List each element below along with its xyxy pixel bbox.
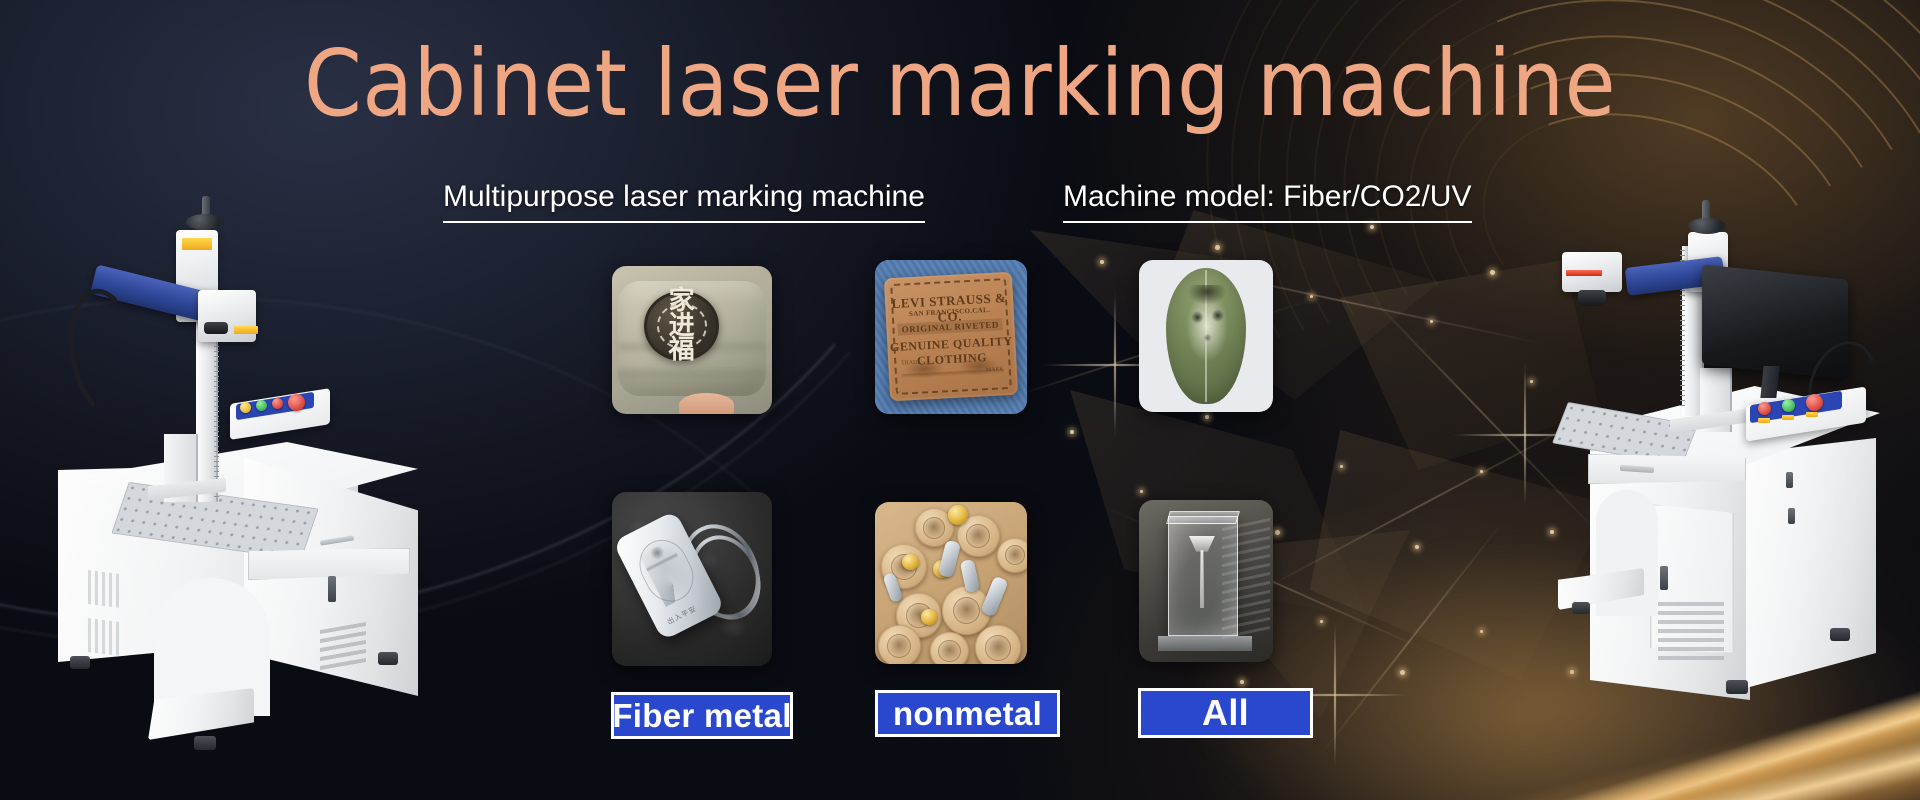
sample-tile-leaf-portrait[interactable]: [1139, 260, 1273, 412]
right-warning-label: [1566, 270, 1602, 276]
left-vent-lower: [88, 618, 120, 656]
right-door-vents: [1658, 602, 1724, 662]
engraved-portrait: [1177, 285, 1236, 370]
right-button-red-1[interactable]: [1758, 402, 1771, 415]
sample-tile-wood-charms[interactable]: [875, 502, 1027, 664]
metal-keychain-image: 出入平安: [612, 492, 772, 666]
leather-patch-image: LEVI STRAUSS & CO. SAN FRANCISCO.CAL. OR…: [875, 260, 1027, 414]
leaf-portrait-image: [1139, 260, 1273, 412]
hand-finger: [679, 393, 733, 414]
sample-tile-stone-seal[interactable]: 家 进福: [612, 266, 772, 414]
right-panel-label-2: [1782, 415, 1794, 420]
left-foot-left: [70, 656, 90, 669]
right-side-latch-lower[interactable]: [1788, 508, 1795, 524]
left-emergency-stop[interactable]: [288, 394, 305, 411]
wood-charms-image: [875, 502, 1027, 664]
sample-tile-metal-keychain[interactable]: 出入平安: [612, 492, 772, 666]
left-side-vents: [320, 622, 366, 672]
right-adjust-knob[interactable]: [1688, 218, 1726, 234]
engraved-leaf: [1166, 268, 1246, 405]
right-button-green[interactable]: [1782, 399, 1795, 412]
badge-fiber-metal[interactable]: Fiber metal: [611, 692, 793, 739]
left-warning-label: [182, 238, 212, 250]
right-monitor-stand: [1760, 366, 1779, 398]
right-lens: [1578, 290, 1606, 306]
right-drawer[interactable]: [1588, 454, 1746, 484]
left-button-red[interactable]: [272, 398, 283, 409]
left-button-green[interactable]: [256, 400, 267, 411]
page-title: Cabinet laser marking machine: [0, 36, 1920, 133]
right-panel-label-1: [1758, 418, 1770, 423]
stone-seal-image: 家 进福: [612, 266, 772, 414]
badge-all[interactable]: All: [1138, 688, 1313, 738]
left-scan-head: [198, 290, 256, 342]
keychain-engraved-text: 出入平安: [666, 604, 699, 627]
left-machine[interactable]: [48, 190, 478, 790]
right-panel-label-3: [1806, 412, 1818, 417]
left-foot-right: [378, 652, 398, 665]
crystal-block: [1168, 516, 1238, 636]
right-foot-front: [1726, 680, 1748, 694]
left-foot-front: [194, 736, 216, 750]
right-emergency-stop[interactable]: [1806, 394, 1823, 411]
right-foot-left: [1572, 602, 1590, 614]
eiffel-tower-engraving: [1195, 536, 1209, 607]
left-adjust-knob[interactable]: [186, 214, 224, 230]
left-vent-upper: [88, 570, 120, 608]
right-machine[interactable]: [1530, 190, 1920, 800]
promo-banner: Cabinet laser marking machine Multipurpo…: [0, 0, 1920, 800]
sample-image-grid: 家 进福 LEVI STRAUSS & CO. SAN FRANCISCO.CA…: [612, 266, 1312, 686]
leather-patch: LEVI STRAUSS & CO. SAN FRANCISCO.CAL. OR…: [884, 272, 1018, 402]
left-cabinet-latch[interactable]: [328, 576, 336, 602]
badge-nonmetal[interactable]: nonmetal: [875, 690, 1060, 737]
left-head-label: [234, 326, 258, 334]
subtitle-right: Machine model: Fiber/CO2/UV: [1063, 180, 1472, 223]
seal-engraving: 家 进福: [644, 291, 719, 361]
right-door-latch[interactable]: [1660, 566, 1668, 590]
right-cabinet-side: [1746, 438, 1876, 688]
sample-tile-crystal-cube[interactable]: [1139, 500, 1273, 662]
seal-glyph-text: 家 进福: [662, 308, 701, 344]
left-button-yellow[interactable]: [240, 402, 251, 413]
subtitle-left: Multipurpose laser marking machine: [443, 180, 925, 223]
right-foot-right: [1830, 628, 1850, 641]
sample-tile-leather-patch[interactable]: LEVI STRAUSS & CO. SAN FRANCISCO.CAL. OR…: [875, 260, 1027, 414]
right-side-latch-upper[interactable]: [1786, 472, 1793, 488]
left-lens: [204, 322, 228, 334]
crystal-cube-image: [1139, 500, 1273, 662]
